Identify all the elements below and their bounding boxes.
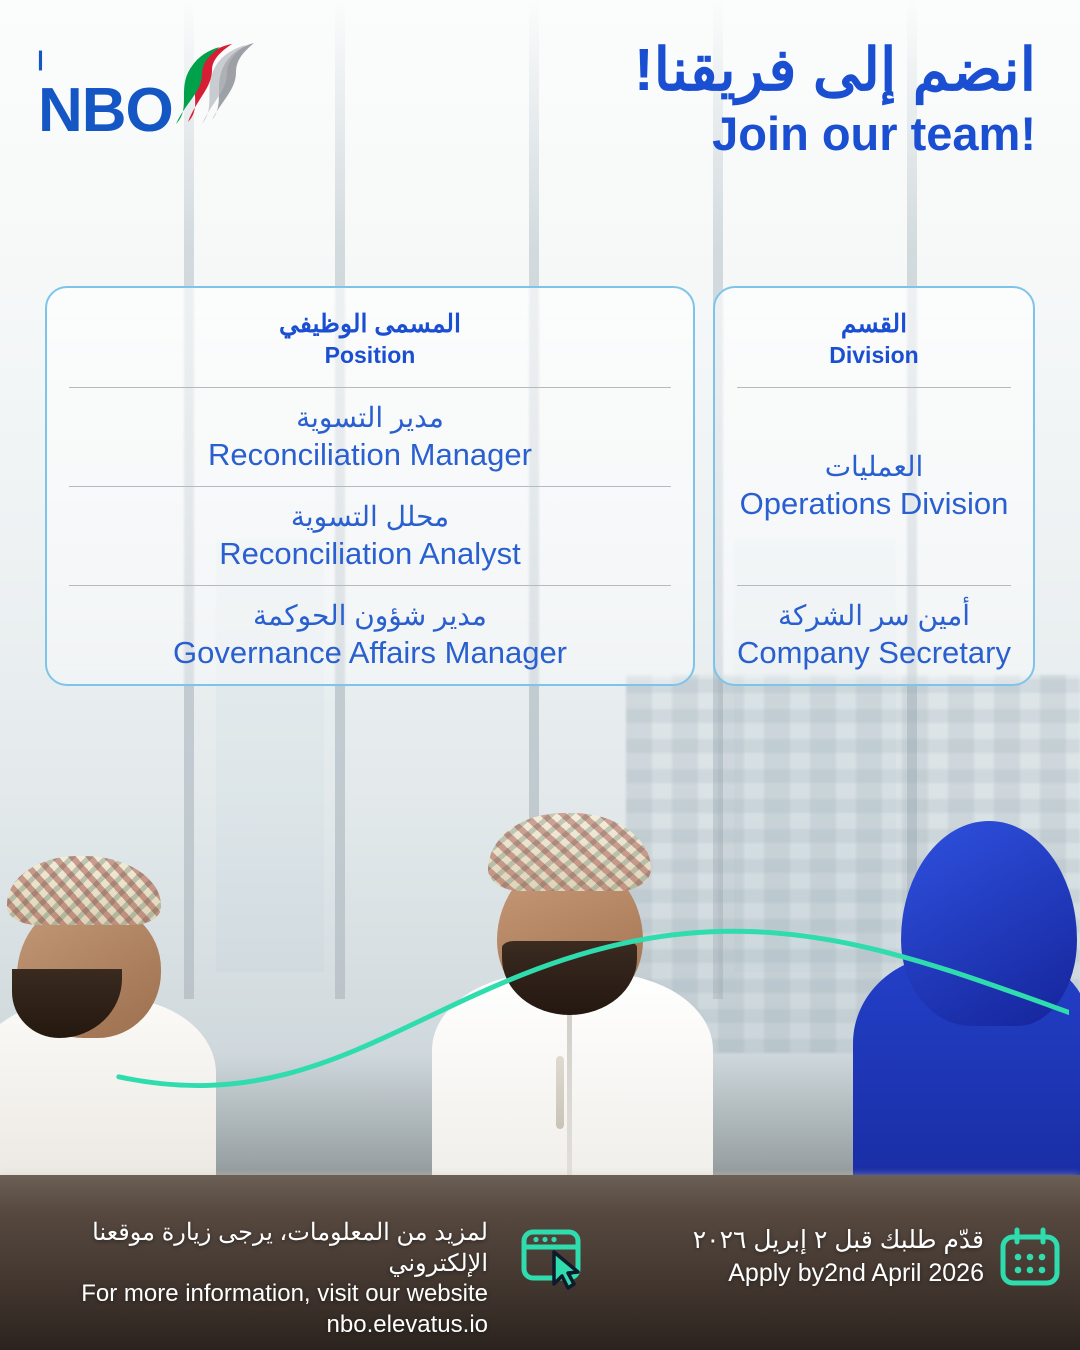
position-header-english: Position [47,342,693,369]
position-arabic: مدير شؤون الحوكمة [47,598,693,634]
swoosh-mark [176,43,254,124]
deadline-info: قدّم طلبك قبل ٢ إبريل ٢٠٢٦ Apply by2nd A… [693,1224,984,1289]
division-row: أمين سر الشركة Company Secretary [715,586,1033,684]
position-column-header: المسمى الوظيفي Position [47,288,693,387]
nbo-logo-mark: البنك الوطني العماني NBO [36,36,266,144]
website-url[interactable]: nbo.elevatus.io [0,1310,488,1341]
division-column-card: القسم Division العمليات Operations Divis… [713,286,1035,686]
website-arabic: لمزيد من المعلومات، يرجى زيارة موقعنا ال… [0,1218,488,1279]
calendar-icon [994,1222,1066,1294]
position-english: Governance Affairs Manager [47,634,693,672]
division-row: العمليات Operations Division [715,388,1033,585]
division-header-arabic: القسم [715,310,1033,340]
position-column-card: المسمى الوظيفي Position مدير التسوية Rec… [45,286,695,686]
vacancies-table: المسمى الوظيفي Position مدير التسوية Rec… [45,286,1035,686]
headline-arabic: انضم إلى فريقنا! [634,40,1036,100]
browser-cursor-icon [516,1222,588,1294]
logo-arabic-text: البنك الوطني العماني [36,48,44,77]
position-row: مدير التسوية Reconciliation Manager [47,388,693,486]
headline-english: Join our team! [634,110,1036,158]
deadline-arabic: قدّم طلبك قبل ٢ إبريل ٢٠٢٦ [693,1224,984,1257]
deadline-english: Apply by2nd April 2026 [693,1257,984,1290]
position-english: Reconciliation Manager [47,436,693,474]
position-row: محلل التسوية Reconciliation Analyst [47,487,693,585]
division-arabic: العمليات [715,449,1033,485]
position-arabic: مدير التسوية [47,400,693,436]
position-english: Reconciliation Analyst [47,535,693,573]
headline: انضم إلى فريقنا! Join our team! [634,40,1036,158]
website-info: لمزيد من المعلومات، يرجى زيارة موقعنا ال… [0,1218,488,1341]
nbo-logo: البنك الوطني العماني NBO [36,36,266,144]
division-header-english: Division [715,342,1033,369]
division-column-header: القسم Division [715,288,1033,387]
division-english: Company Secretary [715,634,1033,672]
footer: لمزيد من المعلومات، يرجى زيارة موقعنا ال… [0,1218,1080,1314]
division-arabic: أمين سر الشركة [715,598,1033,634]
position-row: مدير شؤون الحوكمة Governance Affairs Man… [47,586,693,684]
division-english: Operations Division [715,485,1033,523]
position-header-arabic: المسمى الوظيفي [47,310,693,340]
website-english: For more information, visit our website [0,1279,488,1310]
position-arabic: محلل التسوية [47,499,693,535]
logo-wordmark: NBO [38,76,173,144]
